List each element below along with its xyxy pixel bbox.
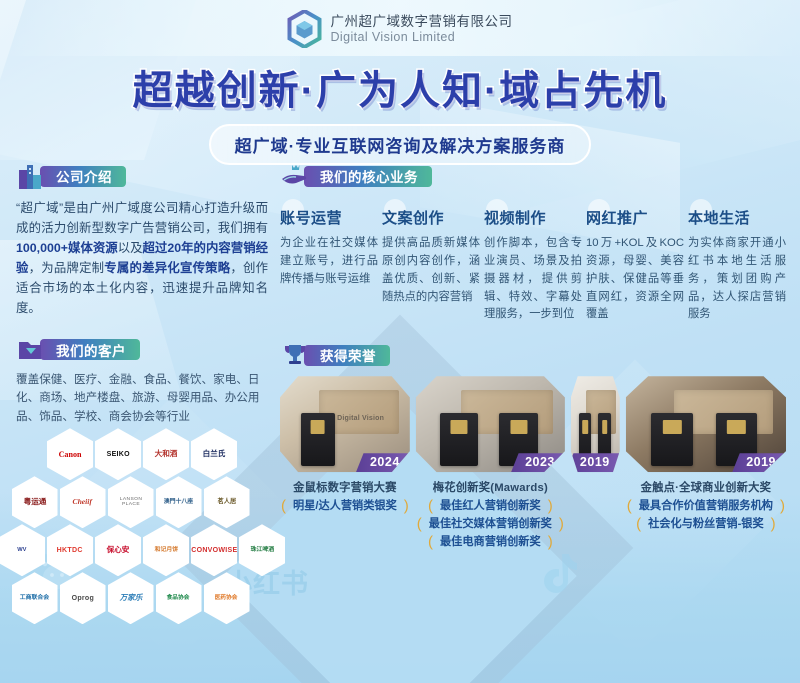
client-logo-label: Cheiif <box>71 498 94 506</box>
photo-brand-text: Digital Vision <box>337 415 384 422</box>
award-photo: Digital Vision2024 <box>280 376 410 472</box>
award-prize: 最具合作价值营销服务机构 <box>626 499 786 514</box>
clients-description: 覆盖保健、医疗、金融、食品、餐饮、家电、日化、商场、地产楼盘、旅游、母婴用品、办… <box>16 371 268 427</box>
business-title: 账号运营 <box>280 207 378 228</box>
brand-name-en: Digital Vision Limited <box>331 30 513 44</box>
award-prize-list: 最佳红人营销创新奖最佳社交媒体营销创新奖最佳电商营销创新奖 <box>416 499 565 550</box>
award-photo: 2023 <box>416 376 565 472</box>
client-logo-grid: CanonSEIKO大和酒白兰氏粤运通CheiifLANSON PLACE澳門十… <box>16 432 268 624</box>
logo-row: CanonSEIKO大和酒白兰氏 <box>16 432 268 480</box>
hero-subtitle: 超广域·专业互联网咨询及解决方案服务商 <box>209 124 592 165</box>
client-logo-label: 保心安 <box>105 546 132 554</box>
business-title: 本地生活 <box>688 207 786 228</box>
client-logo-label: 珠江啤酒 <box>248 547 275 553</box>
client-logo: 医药协会 <box>204 572 250 624</box>
client-logo-label: 大和酒 <box>153 450 180 458</box>
award-prize: 明星/达人营销类银奖 <box>280 499 410 514</box>
company-intro-badge: 公司介绍 <box>40 166 126 187</box>
client-logo-label: CONVOWISE <box>191 547 237 554</box>
client-logo: LANSON PLACE <box>108 476 154 528</box>
award-year: 2023 <box>511 453 565 472</box>
client-logo-label: Canon <box>57 450 84 458</box>
brand-header: 广州超广域数字营销有限公司 Digital Vision Limited <box>288 10 513 48</box>
client-logo: 茗人居 <box>204 476 250 528</box>
client-logo-label: 工商联合会 <box>18 595 51 601</box>
business-title: 网红推广 <box>586 207 684 228</box>
trophy-object <box>301 413 335 467</box>
hero-section: 超越创新·广为人知·域占先机 超广域·专业互联网咨询及解决方案服务商 <box>0 58 800 165</box>
award-prize-list: 明星/达人营销类银奖 <box>280 499 410 514</box>
intro-highlight: 100,000+媒体资源 <box>16 241 118 255</box>
logo-row: 粤运通CheiifLANSON PLACE澳門十八座茗人居 <box>0 480 268 528</box>
client-logo-label: LANSON PLACE <box>109 497 153 507</box>
award-year: 2019 <box>732 453 786 472</box>
client-logo: 澳門十八座 <box>156 476 202 528</box>
page-title: 超越创新·广为人知·域占先机 <box>0 58 800 116</box>
business-title: 文案创作 <box>382 207 480 228</box>
honors-header: 获得荣誉 <box>280 342 786 368</box>
logo-row: WVHKTDC保心安和记月饼CONVOWISE珠江啤酒 <box>16 528 268 576</box>
client-logo: Oprog <box>60 572 106 624</box>
client-logo: SEIKO <box>95 428 141 480</box>
business-column-4: 网红推广10万+KOL及KOC资源，母婴、美容护肤、保健品等垂直网红，资源全网覆… <box>586 203 684 324</box>
trophy-object <box>651 413 693 467</box>
client-logo: Canon <box>47 428 93 480</box>
intro-highlight: 专属的差异化宣传策略 <box>104 261 230 275</box>
award-prize-list: 最具合作价值营销服务机构社会化与粉丝营销-银奖 <box>626 499 786 532</box>
intro-text-run: “超广域”是由广州广域度公司精心打造升级而成的活力创新型数字广告营销公司，我们拥… <box>16 201 268 235</box>
client-logo-label: 白兰氏 <box>201 450 228 458</box>
award-card: 2019 <box>571 376 620 550</box>
trophy-object <box>440 413 479 467</box>
awards-list: Digital Vision2024金鼠标数字营销大赛明星/达人营销类银奖202… <box>280 376 786 550</box>
client-logo: 白兰氏 <box>191 428 237 480</box>
company-intro-header: 公司介绍 <box>16 163 268 189</box>
business-column-1: 账号运营为企业在社交媒体建立账号，进行品牌传播与账号运维 <box>280 203 378 324</box>
client-logo-label: WV <box>15 547 28 553</box>
tiktok-icon <box>540 552 578 601</box>
client-logo-label: 食品协会 <box>165 595 192 601</box>
clients-header: 我们的客户 <box>16 337 268 363</box>
right-column: 我们的核心业务 账号运营为企业在社交媒体建立账号，进行品牌传播与账号运维文案创作… <box>280 163 786 551</box>
award-card: Digital Vision2024金鼠标数字营销大赛明星/达人营销类银奖 <box>280 376 410 550</box>
client-logo-label: SEIKO <box>104 451 131 458</box>
core-business-badge: 我们的核心业务 <box>304 166 432 187</box>
intro-text-run: 以及 <box>118 241 143 255</box>
client-logo: 粤运通 <box>12 476 58 528</box>
brand-name-cn: 广州超广域数字营销有限公司 <box>331 14 513 30</box>
client-logo: 保心安 <box>95 524 141 576</box>
award-photo: 2019 <box>626 376 786 472</box>
award-prize: 最佳电商营销创新奖 <box>427 535 554 550</box>
left-column: 公司介绍 “超广域”是由广州广域度公司精心打造升级而成的活力创新型数字广告营销公… <box>16 163 268 624</box>
hexagon-cube-logo <box>288 10 322 48</box>
client-logo: 万家乐 <box>108 572 154 624</box>
client-logo-label: 万家乐 <box>117 594 144 602</box>
intro-text-run: ，为品牌定制 <box>29 261 105 275</box>
client-logo: 工商联合会 <box>12 572 58 624</box>
logo-row: 工商联合会Oprog万家乐食品协会医药协会 <box>0 576 268 624</box>
business-description: 10万+KOL及KOC资源，母婴、美容护肤、保健品等垂直网红，资源全网覆盖 <box>586 235 684 324</box>
client-logo-label: 茗人居 <box>215 499 238 506</box>
client-logo: CONVOWISE <box>191 524 237 576</box>
business-column-5: 本地生活为实体商家开通小红书本地生活服务，策划团购产品，达人探店营销服务 <box>688 203 786 324</box>
client-logo-label: 粤运通 <box>21 498 48 506</box>
trophy-icon <box>280 342 310 368</box>
client-logo: 和记月饼 <box>143 524 189 576</box>
client-logo: 食品协会 <box>156 572 202 624</box>
award-prize: 最佳红人营销创新奖 <box>427 499 554 514</box>
award-name: 金触点·全球商业创新大奖 <box>641 479 771 495</box>
award-name: 金鼠标数字营销大赛 <box>293 479 396 495</box>
award-card: 2019金触点·全球商业创新大奖最具合作价值营销服务机构社会化与粉丝营销-银奖 <box>626 376 786 550</box>
business-description: 创作脚本，包含专业演员、场景及拍摄器材，提供剪辑、特效、字幕处理服务，一步到位 <box>484 235 582 324</box>
client-logo-label: HKTDC <box>55 547 85 554</box>
business-description: 提供高品质新媒体原创内容创作，涵盖优质、创新、紧随热点的内容营销 <box>382 235 480 306</box>
client-logo: 大和酒 <box>143 428 189 480</box>
core-business-columns: 账号运营为企业在社交媒体建立账号，进行品牌传播与账号运维文案创作提供高品质新媒体… <box>280 203 786 324</box>
business-description: 为企业在社交媒体建立账号，进行品牌传播与账号运维 <box>280 235 378 289</box>
honors-badge: 获得荣誉 <box>304 345 390 366</box>
client-logo: HKTDC <box>47 524 93 576</box>
business-description: 为实体商家开通小红书本地生活服务，策划团购产品，达人探店营销服务 <box>688 235 786 324</box>
company-intro-text: “超广域”是由广州广域度公司精心打造升级而成的活力创新型数字广告营销公司，我们拥… <box>16 198 268 319</box>
core-business-header: 我们的核心业务 <box>280 163 786 189</box>
clients-badge: 我们的客户 <box>40 339 140 360</box>
award-year: 2019 <box>571 453 620 472</box>
business-column-2: 文案创作提供高品质新媒体原创内容创作，涵盖优质、创新、紧随热点的内容营销 <box>382 203 480 324</box>
award-name: 梅花创新奖(Mawards) <box>433 479 548 495</box>
award-prize: 社会化与粉丝营销-银奖 <box>635 517 777 532</box>
client-logo-label: 医药协会 <box>213 595 240 601</box>
hand-crown-icon <box>280 163 310 189</box>
building-icon <box>16 163 46 189</box>
award-photo: 2019 <box>571 376 620 472</box>
award-prize: 最佳社交媒体营销创新奖 <box>416 517 565 532</box>
award-card: 2023梅花创新奖(Mawards)最佳红人营销创新奖最佳社交媒体营销创新奖最佳… <box>416 376 565 550</box>
business-title: 视频制作 <box>484 207 582 228</box>
client-logo-label: Oprog <box>69 595 95 602</box>
business-column-3: 视频制作创作脚本，包含专业演员、场景及拍摄器材，提供剪辑、特效、字幕处理服务，一… <box>484 203 582 324</box>
award-year: 2024 <box>356 453 410 472</box>
client-logo-label: 和记月饼 <box>152 547 179 553</box>
client-logo-label: 澳門十八座 <box>162 499 195 505</box>
folder-heart-icon <box>16 337 46 363</box>
client-logo: Cheiif <box>60 476 106 528</box>
